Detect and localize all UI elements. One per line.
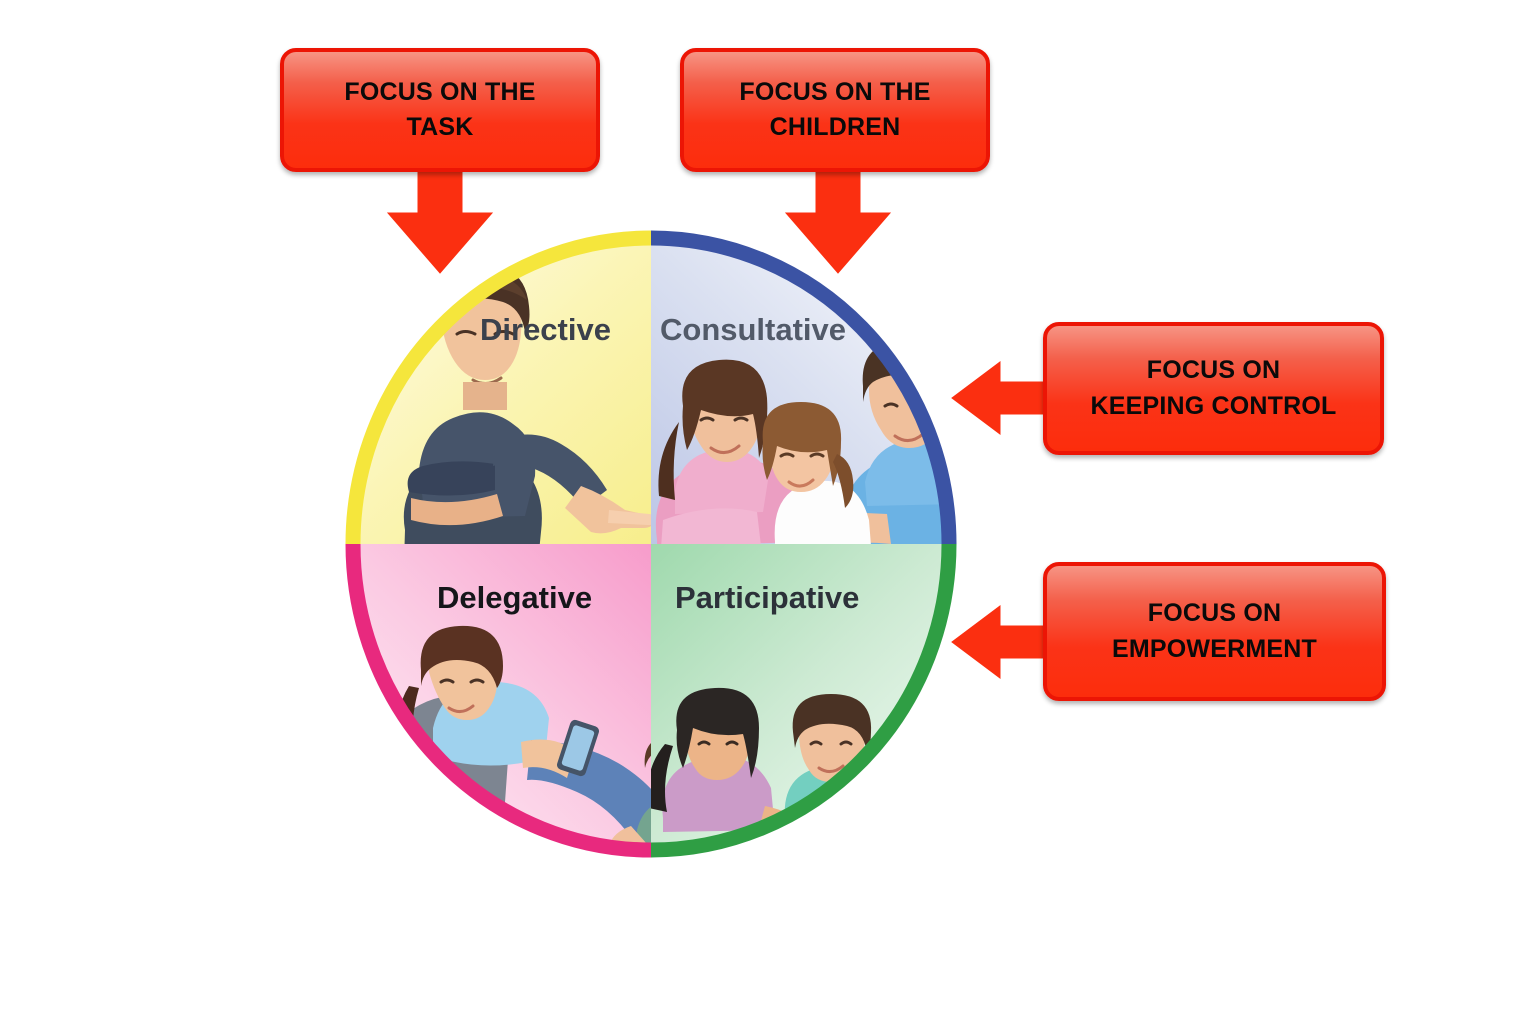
callout-empowerment-line1: FOCUS ON <box>1148 599 1282 627</box>
callout-task-line1: FOCUS ON THE <box>344 78 535 106</box>
arrow-down-to-directive <box>380 165 500 275</box>
callout-empowerment-text: FOCUS ON EMPOWERMENT <box>1100 596 1329 667</box>
callout-control-line2: KEEPING CONTROL <box>1090 392 1336 420</box>
callout-control-text: FOCUS ON KEEPING CONTROL <box>1078 353 1348 424</box>
callout-children-line2: CHILDREN <box>770 113 901 141</box>
callout-children-text: FOCUS ON THE CHILDREN <box>727 75 942 146</box>
callout-task-text: FOCUS ON THE TASK <box>332 75 547 146</box>
arrow-down-to-consultative <box>778 165 898 275</box>
styles-wheel <box>345 230 957 858</box>
diagram-canvas: Directive Consultative Delegative Partic… <box>0 0 1536 1024</box>
callout-focus-on-keeping-control[interactable]: FOCUS ON KEEPING CONTROL <box>1043 322 1384 455</box>
callout-focus-on-empowerment[interactable]: FOCUS ON EMPOWERMENT <box>1043 562 1386 701</box>
callout-control-line1: FOCUS ON <box>1147 356 1281 384</box>
callout-focus-on-the-children[interactable]: FOCUS ON THE CHILDREN <box>680 48 990 172</box>
callout-task-line2: TASK <box>406 113 473 141</box>
callout-empowerment-line2: EMPOWERMENT <box>1112 635 1317 663</box>
callout-children-line1: FOCUS ON THE <box>739 78 930 106</box>
callout-focus-on-the-task[interactable]: FOCUS ON THE TASK <box>280 48 600 172</box>
